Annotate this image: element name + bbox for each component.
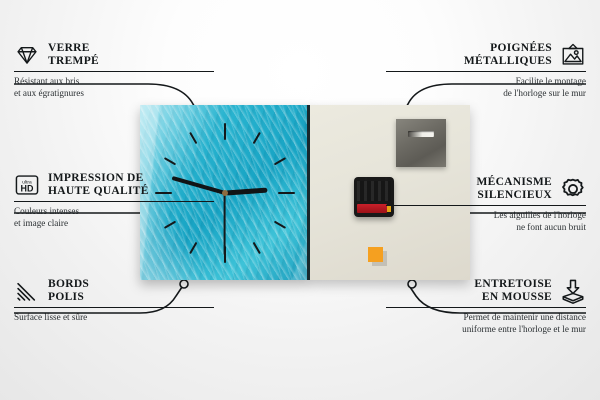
feature-header: MÉCANISME SILENCIEUX (386, 176, 586, 202)
polished-edge-icon (14, 278, 40, 304)
clock-tick (224, 123, 226, 193)
clock-hour-hand (225, 187, 267, 195)
feature-subtitle: Résistant aux bris et aux égratignures (14, 76, 214, 99)
feature-verre-trempe: VERRE TREMPÉ Résistant aux bris et aux é… (14, 42, 214, 99)
clock-tick (225, 157, 287, 194)
feature-subtitle: Surface lisse et sûre (14, 312, 214, 324)
feature-bords-polis: BORDS POLIS Surface lisse et sûre (14, 278, 214, 324)
clock-center-cap (222, 190, 228, 196)
feature-header: BORDS POLIS (14, 278, 214, 304)
arrow-down-pad-icon (560, 278, 586, 304)
gear-icon (560, 176, 586, 202)
clock-tick (225, 192, 295, 194)
diamond-icon (14, 42, 40, 68)
feature-header: VERRE TREMPÉ (14, 42, 214, 68)
feature-header: POIGNÉES MÉTALLIQUES (386, 42, 586, 68)
feature-subtitle: Permet de maintenir une distance uniform… (386, 312, 586, 335)
feature-title: IMPRESSION DE HAUTE QUALITÉ (48, 172, 149, 198)
feature-title: ENTRETOISE EN MOUSSE (474, 278, 552, 304)
ultra-hd-badge-icon: ultra HD (14, 172, 40, 198)
feature-title: POIGNÉES MÉTALLIQUES (464, 42, 552, 68)
clock-tick (224, 131, 261, 193)
feature-header: ultra HD IMPRESSION DE HAUTE QUALITÉ (14, 172, 214, 198)
feature-header: ENTRETOISE EN MOUSSE (386, 278, 586, 304)
divider (386, 307, 586, 308)
divider (14, 71, 214, 72)
metal-hanger-plate (396, 119, 446, 167)
feature-mecanisme-silencieux: MÉCANISME SILENCIEUX Les aiguilles de l'… (386, 176, 586, 233)
foam-spacer (368, 247, 383, 262)
feature-subtitle: Couleurs intenses et image claire (14, 206, 214, 229)
feature-impression-haute-qualite: ultra HD IMPRESSION DE HAUTE QUALITÉ Cou… (14, 172, 214, 229)
feature-title: VERRE TREMPÉ (48, 42, 99, 68)
feature-subtitle: Les aiguilles de l'horloge ne font aucun… (386, 210, 586, 233)
divider (386, 205, 586, 206)
svg-text:HD: HD (21, 184, 34, 194)
clock-tick (224, 193, 226, 263)
feature-entretoise-en-mousse: ENTRETOISE EN MOUSSE Permet de maintenir… (386, 278, 586, 335)
clock-tick (224, 192, 261, 254)
feature-poignees-metalliques: POIGNÉES MÉTALLIQUES Facilite le montage… (386, 42, 586, 99)
clock-second-hand (224, 193, 226, 255)
infographic-canvas: VERRE TREMPÉ Résistant aux bris et aux é… (0, 0, 600, 400)
feature-title: BORDS POLIS (48, 278, 89, 304)
divider (14, 307, 214, 308)
divider (14, 201, 214, 202)
clock-tick (225, 192, 287, 229)
picture-frame-hanging-icon (560, 42, 586, 68)
battery (357, 204, 387, 213)
feature-title: MÉCANISME SILENCIEUX (476, 176, 552, 202)
divider (386, 71, 586, 72)
hanger-slot (408, 131, 434, 137)
feature-subtitle: Facilite le montage de l'horloge sur le … (386, 76, 586, 99)
